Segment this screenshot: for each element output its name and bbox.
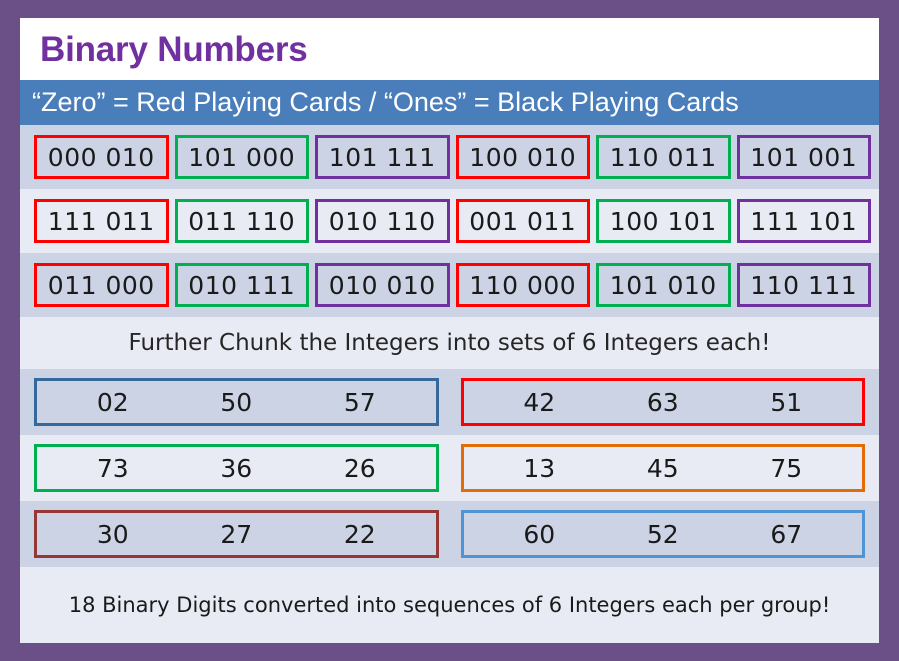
integer-value: 30 [51,522,175,547]
integer-value: 75 [725,456,849,481]
binary-card[interactable]: 101 010 [596,263,731,307]
binary-value: 101 010 [610,273,717,298]
binary-value: 111 011 [48,209,155,234]
integer-value: 27 [175,522,299,547]
integer-group[interactable]: 426351 [461,378,866,426]
integer-value: 45 [601,456,725,481]
binary-value: 100 101 [610,209,717,234]
integer-value: 36 [175,456,299,481]
integer-value: 02 [51,390,175,415]
binary-card[interactable]: 110 000 [456,263,591,307]
binary-value: 100 010 [469,145,576,170]
binary-card[interactable]: 001 011 [456,199,591,243]
binary-value: 110 000 [469,273,576,298]
binary-row: 111 011011 110010 110001 011100 101111 1… [20,189,879,253]
binary-card[interactable]: 011 000 [34,263,169,307]
integer-groups-section: 025057426351733626134575302722605267 [20,369,879,567]
binary-card[interactable]: 111 011 [34,199,169,243]
integer-row: 025057426351 [20,369,879,435]
binary-card[interactable]: 110 011 [596,135,731,179]
binary-value: 101 001 [750,145,857,170]
integer-row: 733626134575 [20,435,879,501]
binary-value: 010 110 [329,209,436,234]
integer-value: 73 [51,456,175,481]
binary-value: 111 101 [750,209,857,234]
integer-value: 51 [725,390,849,415]
integer-value: 52 [601,522,725,547]
integer-value: 67 [725,522,849,547]
integer-group[interactable]: 025057 [34,378,439,426]
binary-card[interactable]: 010 111 [175,263,310,307]
integer-value: 42 [478,390,602,415]
integer-value: 26 [298,456,422,481]
binary-value: 110 011 [610,145,717,170]
slide-content: Binary Numbers “Zero” = Red Playing Card… [20,18,879,643]
binary-value: 001 011 [469,209,576,234]
caption-text: 18 Binary Digits converted into sequence… [69,595,831,616]
binary-card[interactable]: 110 111 [737,263,872,307]
integer-value: 22 [298,522,422,547]
integer-value: 57 [298,390,422,415]
binary-card[interactable]: 100 101 [596,199,731,243]
caption-band: 18 Binary Digits converted into sequence… [20,567,879,643]
page-title: Binary Numbers [40,32,308,67]
integer-value: 60 [478,522,602,547]
binary-card[interactable]: 010 110 [315,199,450,243]
subtitle-text: “Zero” = Red Playing Cards / “Ones” = Bl… [32,89,739,116]
binary-value: 011 110 [188,209,295,234]
binary-card[interactable]: 010 010 [315,263,450,307]
slide-canvas: Binary Numbers “Zero” = Red Playing Card… [0,0,899,661]
mid-instruction-band: Further Chunk the Integers into sets of … [20,317,879,369]
binary-value: 010 111 [188,273,295,298]
binary-card[interactable]: 100 010 [456,135,591,179]
integer-value: 50 [175,390,299,415]
integer-group[interactable]: 302722 [34,510,439,558]
binary-row: 000 010101 000101 111100 010110 011101 0… [20,125,879,189]
integer-group[interactable]: 605267 [461,510,866,558]
integer-group[interactable]: 733626 [34,444,439,492]
binary-card[interactable]: 101 001 [737,135,872,179]
binary-card[interactable]: 011 110 [175,199,310,243]
binary-value: 110 111 [750,273,857,298]
integer-group[interactable]: 134575 [461,444,866,492]
binary-value: 010 010 [329,273,436,298]
binary-card[interactable]: 111 101 [737,199,872,243]
binary-value: 011 000 [48,273,155,298]
integer-value: 13 [478,456,602,481]
binary-card[interactable]: 101 000 [175,135,310,179]
binary-value: 101 000 [188,145,295,170]
integer-row: 302722605267 [20,501,879,567]
binary-row: 011 000010 111010 010110 000101 010110 1… [20,253,879,317]
binary-value: 101 111 [329,145,436,170]
binary-digits-section: 000 010101 000101 111100 010110 011101 0… [20,125,879,317]
binary-value: 000 010 [48,145,155,170]
subtitle-banner: “Zero” = Red Playing Cards / “Ones” = Bl… [20,80,879,125]
binary-card[interactable]: 101 111 [315,135,450,179]
binary-card[interactable]: 000 010 [34,135,169,179]
mid-instruction-text: Further Chunk the Integers into sets of … [129,332,771,355]
title-band: Binary Numbers [20,18,879,80]
integer-value: 63 [601,390,725,415]
